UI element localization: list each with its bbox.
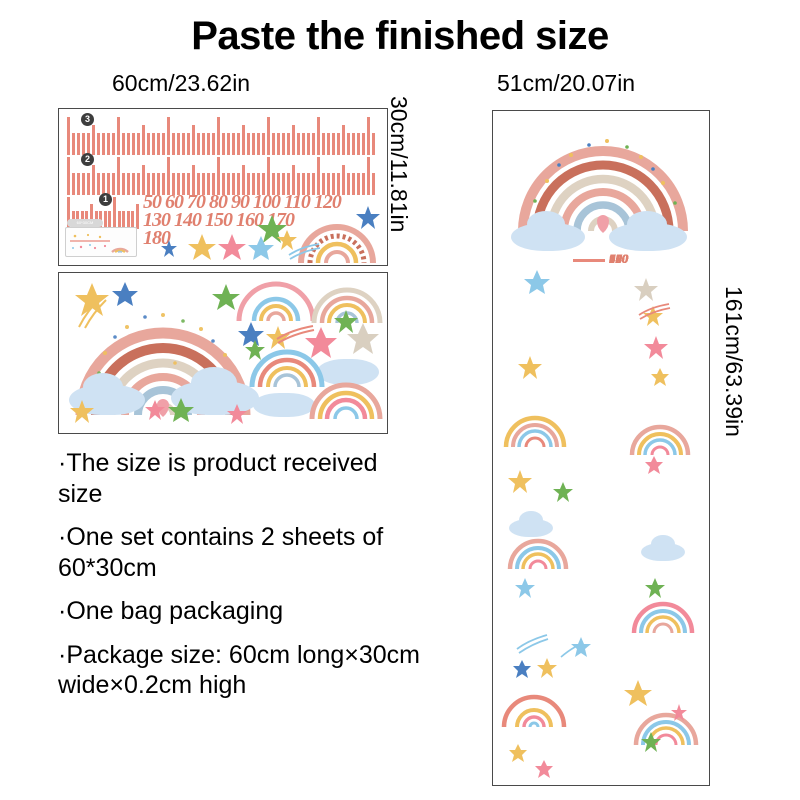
ruler-tick [72, 173, 75, 195]
ruler-tick [127, 173, 130, 195]
chart-comet-left-1 [515, 631, 549, 655]
chart-cloud-top-left-b [527, 211, 565, 237]
ruler-tick [287, 133, 290, 155]
ruler-tick [167, 157, 170, 195]
ruler-tick [172, 133, 175, 155]
ruler-tick [267, 117, 270, 155]
ruler-tick [102, 133, 105, 155]
height-chart-ruler: 1801701601501401301201101009080706050 [573, 259, 607, 779]
sheet1-comet-trail [287, 241, 321, 261]
ruler-tick [152, 133, 155, 155]
chart-star-tan-1 [633, 277, 659, 303]
chart-star-yellow-2 [517, 355, 543, 381]
ruler-tick [362, 133, 365, 155]
ruler-tick [147, 133, 150, 155]
cloud-decal-3 [253, 393, 315, 417]
chart-star-blue-2 [513, 577, 537, 601]
ruler-tick [352, 133, 355, 155]
ruler-tick [122, 173, 125, 195]
ruler-tick [112, 133, 115, 155]
chart-star-blue-1 [523, 269, 551, 297]
sheet2-star-green-bottom [167, 397, 195, 425]
ruler-tick [327, 133, 330, 155]
product-notes-list: ·The size is product received size ·One … [58, 448, 428, 714]
ruler-tick [87, 133, 90, 155]
chart-rainbow-right-2 [631, 597, 695, 635]
sheet2-star-green-2 [243, 339, 267, 363]
note-item-1: ·The size is product received size [58, 448, 428, 509]
ruler-tick [372, 173, 375, 195]
strip-badge-3: 3 [81, 113, 94, 126]
right-sheet-width-label: 51cm/20.07in [497, 70, 635, 97]
sheet2-comet-trail [275, 323, 315, 345]
ruler-tick [72, 133, 75, 155]
ruler-tick [177, 133, 180, 155]
ruler-tick [237, 133, 240, 155]
sheet2-star-green [211, 283, 241, 313]
ruler-tick [312, 133, 315, 155]
strip-badge-1: 1 [99, 193, 112, 206]
sheet2-star-blue [111, 281, 139, 309]
ruler-tick [122, 133, 125, 155]
ruler-tick [77, 133, 80, 155]
ruler-tick [352, 173, 355, 195]
ruler-tick [117, 157, 120, 195]
sheet-2-panel [58, 272, 388, 434]
ruler-tick [322, 133, 325, 155]
ruler-tick [107, 173, 110, 195]
chart-star-yellow-7 [507, 743, 529, 765]
chart-rainbow-right-1 [629, 419, 691, 457]
ruler-tick [317, 117, 320, 155]
left-sheet-width-label: 60cm/23.62in [112, 70, 250, 97]
chart-rainbow-left-3 [501, 691, 567, 729]
ruler-tick [113, 197, 116, 229]
rainbow-decal-bottom-right [309, 377, 383, 421]
ruler-tick [77, 173, 80, 195]
chart-cloud-top-right-b [627, 211, 667, 237]
ruler-tick [167, 117, 170, 155]
chart-cloud-right-mid-b [651, 535, 675, 553]
ruler-tick [342, 125, 345, 155]
ruler-tick [207, 133, 210, 155]
right-sheet-height-label: 161cm/63.39in [720, 286, 747, 437]
chart-star-green-1 [551, 481, 575, 505]
ruler-tick [242, 125, 245, 155]
ruler-tick [267, 157, 270, 195]
ruler-tick [136, 204, 139, 229]
ruler-tick [257, 133, 260, 155]
ruler-tick [107, 133, 110, 155]
ruler-tick [307, 133, 310, 155]
ruler-tick [262, 133, 265, 155]
ruler-tick [367, 117, 370, 155]
ruler-tick [157, 133, 160, 155]
ruler-tick [272, 133, 275, 155]
height-tick [573, 259, 605, 262]
sheet-1-panel: 3 2 1 50 60 70 80 90 100 110 120 130 140… [58, 108, 388, 266]
chart-star-pink-2 [643, 455, 665, 477]
sheet1-star-yellow [187, 233, 217, 263]
chart-comet-right-1 [637, 301, 671, 321]
ruler-tick [317, 157, 320, 195]
sheet1-star-pink [217, 233, 247, 263]
chart-star-pink-4 [533, 759, 555, 781]
chart-shooting-star-blue [559, 635, 593, 661]
ruler-tick [117, 117, 120, 155]
ruler-tick [102, 173, 105, 195]
ruler-strip-3 [67, 117, 377, 155]
chart-star-green-2 [643, 577, 667, 601]
ruler-tick [82, 173, 85, 195]
ruler-tick [197, 133, 200, 155]
note-item-2: ·One set contains 2 sheets of 60*30cm [58, 522, 428, 583]
preview-chip-tag: 60*30CM [67, 219, 103, 227]
ruler-tick [142, 125, 145, 155]
cloud-decal-2b [191, 367, 237, 399]
chart-star-green-3 [639, 731, 663, 755]
ruler-tick [132, 133, 135, 155]
ruler-tick [297, 133, 300, 155]
cloud-decal-1b [83, 373, 123, 401]
chart-star-yellow-6 [623, 679, 653, 709]
ruler-tick [357, 173, 360, 195]
ruler-tick [232, 133, 235, 155]
ruler-tick [217, 157, 220, 195]
ruler-tick [112, 173, 115, 195]
note-item-4: ·Package size: 60cm long×30cm wide×0.2cm… [58, 640, 428, 701]
sheet1-star-blue [355, 205, 381, 231]
ruler-tick [127, 133, 130, 155]
ruler-tick [282, 133, 285, 155]
ruler-tick [82, 133, 85, 155]
ruler-tick [92, 125, 95, 155]
ruler-strip-2 [67, 157, 377, 195]
ruler-tick [347, 133, 350, 155]
sheet1-star-lightblue [247, 235, 275, 263]
ruler-tick [87, 173, 90, 195]
sheet2-star-pink-bottom [143, 399, 167, 423]
left-sheet-height-label: 30cm/11.81in [385, 96, 412, 232]
ruler-tick [212, 133, 215, 155]
ruler-tick [202, 133, 205, 155]
sheet-3-panel: 1801701601501401301201101009080706050 [492, 110, 710, 786]
ruler-tick [362, 173, 365, 195]
chart-star-yellow-3 [649, 367, 671, 389]
ruler-tick [357, 133, 360, 155]
ruler-tick [137, 173, 140, 195]
ruler-tick [97, 133, 100, 155]
note-item-3: ·One bag packaging [58, 596, 428, 627]
chart-star-yellow-4 [507, 469, 533, 495]
chart-star-pink-1 [643, 335, 669, 361]
sheet2-star-pink-bottom-2 [225, 403, 249, 427]
rainbow-decal-top-mid [235, 279, 317, 323]
ruler-tick [187, 133, 190, 155]
sheet2-star-yellow-bottom [69, 399, 95, 425]
sheet2-star-green-3 [333, 309, 359, 335]
chart-cloud-left-mid-b [519, 511, 543, 529]
preview-chip [65, 227, 137, 257]
chart-star-pink-3 [669, 703, 689, 723]
ruler-tick [67, 157, 70, 195]
height-tick-label: 50 [609, 251, 622, 267]
ruler-tick [302, 133, 305, 155]
ruler-tick [222, 133, 225, 155]
ruler-tick [182, 133, 185, 155]
ruler-tick [67, 117, 70, 155]
ruler-tick [252, 133, 255, 155]
ruler-tick [137, 133, 140, 155]
ruler-tick [372, 133, 375, 155]
strip-badge-2: 2 [81, 153, 94, 166]
ruler-tick [192, 125, 195, 155]
ruler-tick [337, 133, 340, 155]
ruler-tick [277, 133, 280, 155]
chart-rainbow-left-2 [507, 535, 569, 571]
ruler-tick [97, 173, 100, 195]
chart-rainbow-left-1 [503, 411, 567, 449]
preview-chip-art [66, 228, 136, 256]
ruler-tick [227, 133, 230, 155]
sheet1-star-blue-small [159, 239, 179, 259]
ruler-tick [162, 133, 165, 155]
ruler-tick [332, 133, 335, 155]
page-title: Paste the finished size [0, 14, 800, 59]
ruler-tick [92, 165, 95, 195]
ruler-tick [347, 173, 350, 195]
chart-star-yellow-5 [535, 657, 559, 681]
ruler-tick [292, 125, 295, 155]
ruler-tick [132, 173, 135, 195]
ruler-tick [367, 157, 370, 195]
ruler-tick [217, 117, 220, 155]
sheet2-shooting-trail [75, 293, 109, 329]
chart-star-blue-3 [511, 659, 533, 681]
ruler-tick [247, 133, 250, 155]
ruler-tick [342, 165, 345, 195]
